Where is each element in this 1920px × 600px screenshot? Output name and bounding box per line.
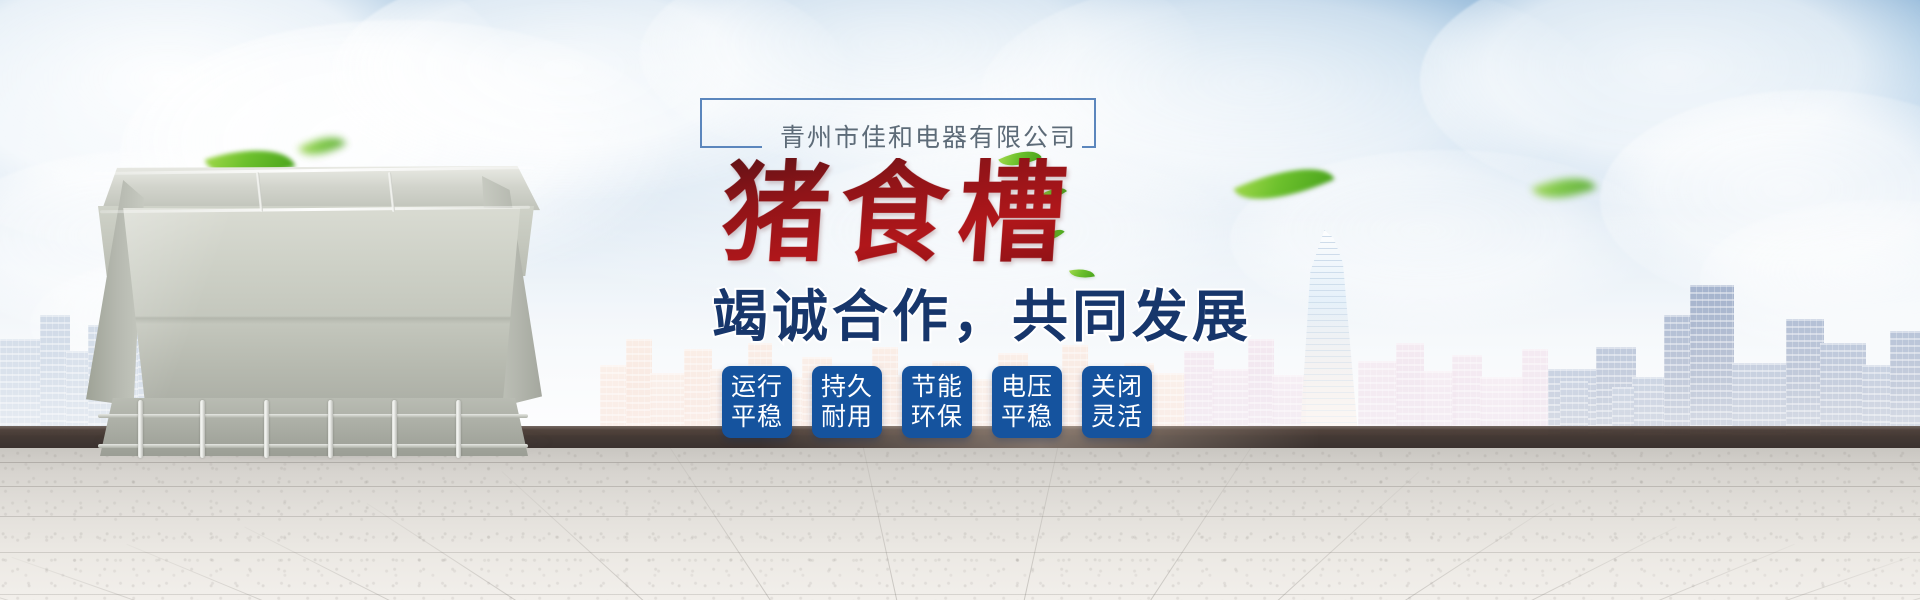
- ground-line: [1892, 575, 1920, 600]
- trough-grid-bar: [456, 400, 461, 458]
- trough-grid-bar: [138, 400, 143, 458]
- trough-main-body: [92, 208, 538, 408]
- promotional-banner: 青州市佳和电器有限公司 猪食槽 竭诚合作，共同发展 运行平稳持久耐用节能环保电压…: [0, 0, 1920, 600]
- trough-grid-bar: [200, 400, 205, 458]
- building: [1358, 361, 1398, 435]
- feature-chip-line1: 关闭: [1091, 372, 1143, 403]
- feature-chip-line1: 节能: [911, 372, 963, 403]
- ground-line: [12, 557, 248, 600]
- feature-chip-2[interactable]: 持久耐用: [812, 366, 882, 438]
- ground-line: [658, 448, 796, 600]
- ground-line: [1125, 448, 1263, 600]
- trough-grid-bar: [328, 400, 333, 458]
- ground-line: [501, 471, 686, 600]
- building: [1890, 331, 1920, 435]
- feature-chip-1[interactable]: 运行平稳: [722, 366, 792, 438]
- ground-line: [1344, 503, 1554, 600]
- feature-chip-line2: 平稳: [731, 402, 783, 433]
- feature-chip-4[interactable]: 电压平稳: [992, 366, 1062, 438]
- company-name: 青州市佳和电器有限公司: [780, 118, 1077, 154]
- ground-line: [1563, 544, 1794, 600]
- plaza-ground: [0, 448, 1920, 600]
- building: [0, 339, 42, 435]
- ground-line: [852, 448, 907, 600]
- trough-rail: [98, 414, 528, 418]
- building: [1248, 339, 1274, 435]
- feature-chip-3[interactable]: 节能环保: [902, 366, 972, 438]
- ground-line: [1454, 527, 1677, 600]
- building: [1452, 355, 1482, 435]
- feature-chip-line2: 耐用: [821, 402, 873, 433]
- ground-line: [1015, 448, 1070, 600]
- ground-line: [126, 544, 357, 600]
- feature-chip-line1: 电压: [1001, 372, 1053, 403]
- building: [1690, 285, 1734, 435]
- trough-grid-bar: [264, 400, 269, 458]
- feature-chip-list: 运行平稳持久耐用节能环保电压平稳关闭灵活: [722, 366, 1152, 438]
- trough-rail: [98, 444, 528, 448]
- building: [1184, 351, 1214, 435]
- trough-grid-bar: [392, 400, 397, 458]
- feature-chip-line1: 持久: [821, 372, 873, 403]
- building: [1820, 343, 1866, 435]
- building: [1522, 349, 1548, 435]
- banner-copy: 青州市佳和电器有限公司 猪食槽 竭诚合作，共同发展: [700, 96, 1440, 353]
- ground-line: [0, 575, 29, 600]
- feature-chip-line2: 灵活: [1091, 402, 1143, 433]
- ground-perspective-lines: [0, 448, 1920, 600]
- product-image-feeding-trough: [78, 166, 548, 456]
- ground-line: [367, 503, 577, 600]
- product-title: 猪食槽: [696, 158, 1444, 270]
- feature-chip-line2: 平稳: [1001, 402, 1053, 433]
- building: [626, 339, 652, 435]
- slogan: 竭诚合作，共同发展: [700, 272, 1440, 353]
- ground-line: [244, 527, 467, 600]
- building: [684, 349, 712, 435]
- feature-chip-line1: 运行: [731, 372, 783, 403]
- building: [1732, 363, 1792, 435]
- building: [1786, 319, 1824, 435]
- feature-chip-5[interactable]: 关闭灵活: [1082, 366, 1152, 438]
- feature-chip-line2: 环保: [911, 402, 963, 433]
- ground-line: [1234, 471, 1419, 600]
